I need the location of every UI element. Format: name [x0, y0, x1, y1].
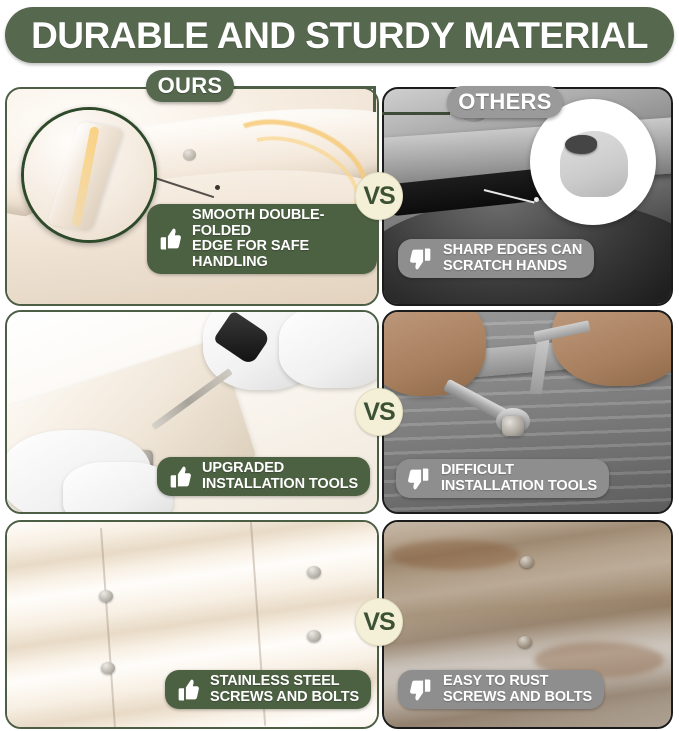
- ours-caption-badge-installation-tools: UPGRADED INSTALLATION TOOLS: [157, 457, 370, 496]
- others-label-pill: OTHERS: [447, 86, 563, 118]
- ours-caption-text: SMOOTH DOUBLE-FOLDED EDGE FOR SAFE HANDL…: [192, 208, 365, 270]
- thumbs-up-icon: [173, 675, 203, 705]
- stainless-screw: [307, 630, 321, 642]
- bed-screw: [183, 149, 196, 160]
- others-caption-text: DIFFICULT INSTALLATION TOOLS: [441, 463, 597, 494]
- stainless-screw: [101, 662, 115, 674]
- fingertip: [560, 131, 628, 197]
- vs-badge-row-2: VS: [355, 388, 403, 436]
- thumbs-down-icon: [406, 244, 436, 274]
- ours-caption-badge-edge-safety: SMOOTH DOUBLE-FOLDED EDGE FOR SAFE HANDL…: [147, 204, 377, 274]
- stainless-screw: [307, 566, 321, 578]
- stainless-screw: [99, 590, 113, 602]
- page-title: DURABLE AND STURDY MATERIAL: [31, 17, 648, 54]
- ours-caption-text: UPGRADED INSTALLATION TOOLS: [202, 461, 358, 492]
- bolt: [502, 416, 524, 436]
- gloved-hand-upper-fingers: [279, 310, 379, 388]
- ours-caption-badge-screws-bolts: STAINLESS STEEL SCREWS AND BOLTS: [165, 670, 371, 709]
- ours-panel-screws-bolts: STAINLESS STEEL SCREWS AND BOLTS: [5, 520, 379, 729]
- header-banner: DURABLE AND STURDY MATERIAL: [5, 7, 674, 63]
- rusty-screw: [520, 556, 534, 568]
- blood-drop: [565, 135, 596, 154]
- vs-label: VS: [363, 398, 394, 427]
- ours-label-pill: OURS: [146, 70, 234, 102]
- thumbs-up-icon: [165, 462, 195, 492]
- others-label-text: OTHERS: [458, 89, 551, 115]
- others-connector-line: [382, 112, 450, 115]
- ours-connector-line: [232, 86, 376, 89]
- others-caption-badge-edge-safety: SHARP EDGES CAN SCRATCH HANDS: [398, 239, 594, 278]
- vs-badge-row-1: VS: [355, 172, 403, 220]
- others-caption-text: SHARP EDGES CAN SCRATCH HANDS: [443, 243, 582, 274]
- ours-label-text: OURS: [158, 73, 223, 99]
- others-caption-badge-screws-bolts: EASY TO RUST SCREWS AND BOLTS: [398, 670, 604, 709]
- thumbs-up-icon: [155, 224, 185, 254]
- comparison-row-installation-tools: UPGRADED INSTALLATION TOOLS DIFFICULT IN…: [0, 310, 679, 510]
- callout-pointer-dot: [215, 185, 220, 190]
- vs-label: VS: [363, 608, 394, 637]
- comparison-row-screws-bolts: STAINLESS STEEL SCREWS AND BOLTS EASY TO…: [0, 520, 679, 725]
- ours-panel-edge-safety: SMOOTH DOUBLE-FOLDED EDGE FOR SAFE HANDL…: [5, 87, 379, 306]
- ours-caption-text: STAINLESS STEEL SCREWS AND BOLTS: [210, 674, 359, 705]
- others-panel-edge-safety: SHARP EDGES CAN SCRATCH HANDS: [382, 87, 673, 306]
- vs-badge-row-3: VS: [355, 598, 403, 646]
- vs-label: VS: [363, 182, 394, 211]
- thumbs-down-icon: [406, 675, 436, 705]
- comparison-row-edge-safety: SMOOTH DOUBLE-FOLDED EDGE FOR SAFE HANDL…: [0, 87, 679, 302]
- magnifier-circle-bleeding-finger: [530, 99, 656, 225]
- ours-connector-drop: [373, 86, 376, 112]
- comparison-grid: SMOOTH DOUBLE-FOLDED EDGE FOR SAFE HANDL…: [0, 68, 679, 731]
- others-caption-text: EASY TO RUST SCREWS AND BOLTS: [443, 674, 592, 705]
- rust-streak: [390, 540, 520, 570]
- thumbs-down-icon: [404, 464, 434, 494]
- others-caption-badge-installation-tools: DIFFICULT INSTALLATION TOOLS: [396, 459, 609, 498]
- magnifier-circle-folded-edge: [21, 107, 157, 243]
- others-panel-installation-tools: DIFFICULT INSTALLATION TOOLS: [382, 310, 673, 514]
- others-panel-screws-bolts: EASY TO RUST SCREWS AND BOLTS: [382, 520, 673, 729]
- ours-panel-installation-tools: UPGRADED INSTALLATION TOOLS: [5, 310, 379, 514]
- rusty-screw: [518, 636, 532, 648]
